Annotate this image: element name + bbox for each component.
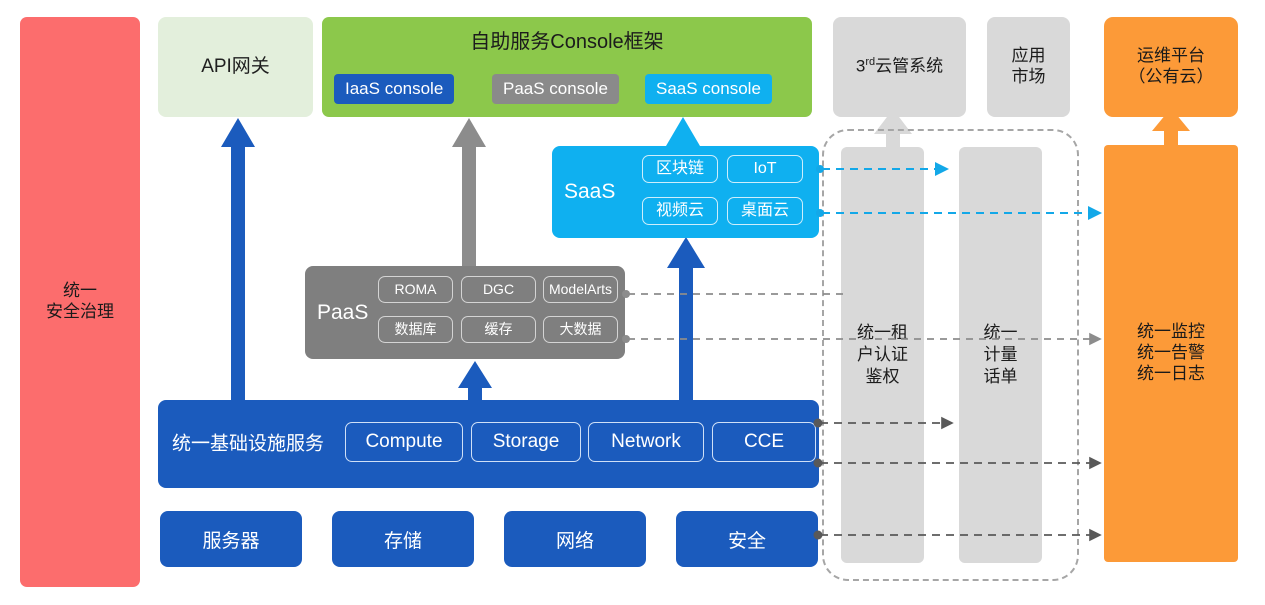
arrow-infra-to-saas	[667, 237, 705, 402]
paas-chip-roma[interactable]: ROMA	[378, 276, 453, 303]
application-marketplace-box[interactable]: 应用 市场	[987, 17, 1070, 117]
saas-chip-video-cloud[interactable]: 视频云	[642, 197, 718, 225]
third-cloud-prefix: 3	[856, 57, 865, 76]
resource-box-network[interactable]: 网络	[504, 511, 646, 567]
saas-layer-box[interactable]: SaaS 区块链 IoT 视频云 桌面云	[552, 146, 819, 238]
ops-platform-public-cloud-box[interactable]: 运维平台 （公有云）	[1104, 17, 1238, 117]
infra-chip-storage[interactable]: Storage	[471, 422, 581, 462]
third-cloud-label: 3rd云管系统	[856, 56, 943, 77]
saas-layer-label: SaaS	[564, 179, 615, 205]
arrow-infra-to-paas	[458, 360, 492, 402]
saas-chip-desktop-cloud[interactable]: 桌面云	[727, 197, 803, 225]
third-cloud-suffix: 云管系统	[875, 57, 943, 76]
arrow-paas-to-console	[452, 118, 486, 270]
saas-chip-iot[interactable]: IoT	[727, 155, 803, 183]
arrow-infra-to-api-gateway	[221, 118, 255, 400]
third-cloud-ordinal-suffix: rd	[865, 56, 875, 68]
paas-console-chip[interactable]: PaaS console	[492, 74, 619, 104]
ops-capabilities-panel[interactable]: 统一监控 统一告警 统一日志	[1104, 145, 1238, 562]
iaas-console-chip[interactable]: IaaS console	[334, 74, 454, 104]
unified-security-governance-panel[interactable]: 统一 安全治理	[20, 17, 140, 587]
third-party-cloud-mgmt-box[interactable]: 3rd云管系统	[833, 17, 966, 117]
unified-infrastructure-service-box[interactable]: 统一基础设施服务 Compute Storage Network CCE	[158, 400, 819, 488]
paas-chip-modelarts[interactable]: ModelArts	[543, 276, 618, 303]
self-service-console-framework[interactable]: 自助服务Console框架 IaaS console PaaS console …	[322, 17, 812, 117]
paas-chip-cache[interactable]: 缓存	[461, 316, 536, 343]
infra-chip-cce[interactable]: CCE	[712, 422, 816, 462]
paas-chip-bigdata[interactable]: 大数据	[543, 316, 618, 343]
paas-chip-dgc[interactable]: DGC	[461, 276, 536, 303]
unified-metering-billing-column[interactable]: 统一 计量 话单	[959, 147, 1042, 563]
paas-chip-database[interactable]: 数据库	[378, 316, 453, 343]
infra-chip-compute[interactable]: Compute	[345, 422, 463, 462]
infrastructure-layer-label: 统一基础设施服务	[172, 432, 324, 455]
paas-layer-label: PaaS	[317, 300, 368, 326]
saas-console-chip[interactable]: SaaS console	[645, 74, 772, 104]
console-framework-title: 自助服务Console框架	[322, 30, 812, 54]
dashed-link-paas-to-tenant-auth	[622, 290, 845, 298]
paas-layer-box[interactable]: PaaS ROMA DGC ModelArts 数据库 缓存 大数据	[305, 266, 625, 359]
architecture-diagram: 统一 安全治理 API网关 自助服务Console框架 IaaS console…	[0, 0, 1265, 605]
resource-box-storage[interactable]: 存储	[332, 511, 474, 567]
api-gateway-box[interactable]: API网关	[158, 17, 313, 117]
resource-box-security[interactable]: 安全	[676, 511, 818, 567]
resource-box-server[interactable]: 服务器	[160, 511, 302, 567]
unified-tenant-auth-column[interactable]: 统一租 户认证 鉴权	[841, 147, 924, 563]
saas-chip-blockchain[interactable]: 区块链	[642, 155, 718, 183]
infra-chip-network[interactable]: Network	[588, 422, 704, 462]
